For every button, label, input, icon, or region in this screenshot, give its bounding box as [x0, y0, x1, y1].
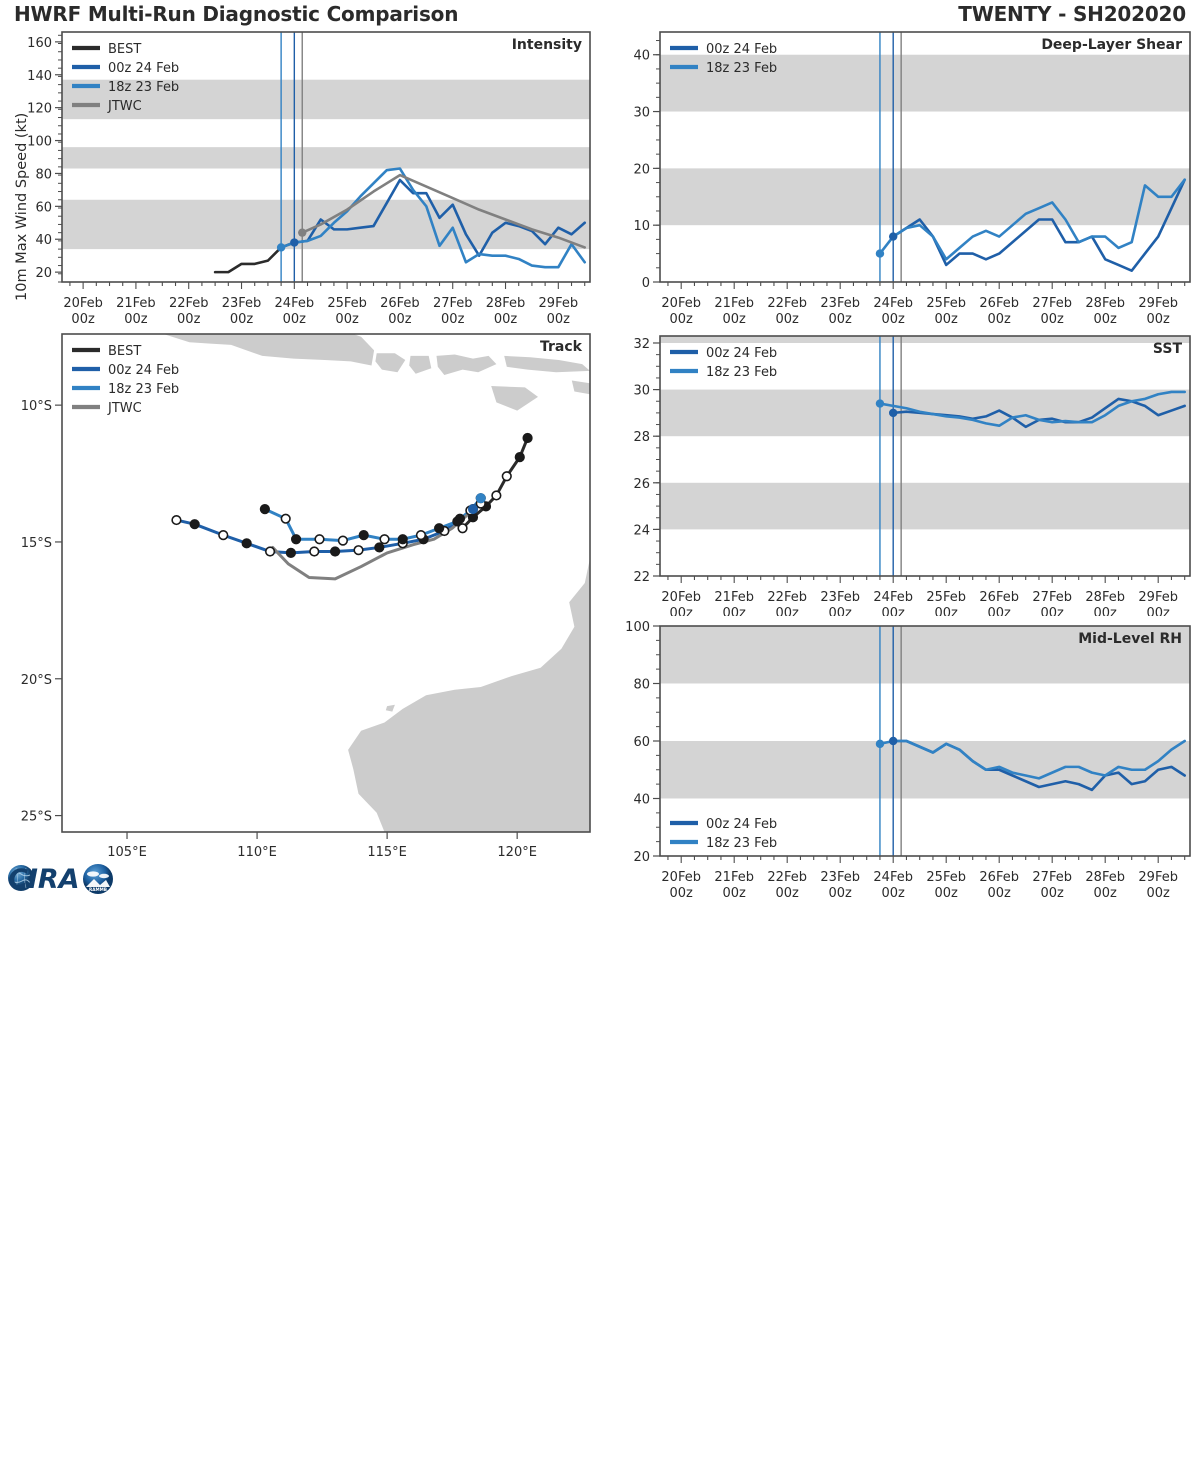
svg-text:26Feb: 26Feb: [979, 590, 1019, 605]
svg-text:00z: 00z: [829, 312, 853, 326]
svg-text:26Feb: 26Feb: [979, 870, 1019, 885]
svg-text:18z 23 Feb: 18z 23 Feb: [706, 365, 777, 380]
storm-identifier: TWENTY - SH202020: [958, 2, 1186, 26]
svg-text:29Feb: 29Feb: [539, 296, 579, 311]
svg-text:120°E: 120°E: [497, 845, 537, 860]
svg-text:40: 40: [35, 233, 52, 248]
svg-text:00z 24 Feb: 00z 24 Feb: [706, 42, 777, 57]
svg-text:20°S: 20°S: [21, 673, 52, 688]
svg-text:24Feb: 24Feb: [275, 296, 315, 311]
svg-text:22: 22: [633, 570, 650, 585]
svg-text:00z: 00z: [1094, 886, 1118, 900]
svg-text:10°S: 10°S: [21, 399, 52, 414]
svg-text:00z: 00z: [335, 312, 359, 326]
panel-shear: 200-850 hPa Shear (kt) 010203040Deep-Lay…: [600, 26, 1200, 326]
svg-text:18z 23 Feb: 18z 23 Feb: [706, 61, 777, 76]
svg-text:00z: 00z: [882, 312, 906, 326]
svg-text:Intensity: Intensity: [512, 37, 582, 53]
svg-text:29Feb: 29Feb: [1138, 296, 1178, 311]
svg-text:00z 24 Feb: 00z 24 Feb: [706, 817, 777, 832]
svg-text:30: 30: [633, 106, 650, 121]
svg-text:26: 26: [633, 477, 650, 492]
svg-text:23Feb: 23Feb: [820, 870, 860, 885]
page-title: HWRF Multi-Run Diagnostic Comparison: [14, 2, 458, 26]
svg-text:Mid-Level RH: Mid-Level RH: [1078, 631, 1182, 647]
sst-plot: 222426283032SST00z 24 Feb18z 23 Feb20Feb…: [600, 326, 1200, 616]
svg-text:00z: 00z: [988, 312, 1012, 326]
svg-text:00z: 00z: [776, 312, 800, 326]
svg-text:00z: 00z: [988, 886, 1012, 900]
svg-text:28Feb: 28Feb: [1085, 296, 1125, 311]
svg-text:00z: 00z: [441, 312, 465, 326]
svg-text:100: 100: [625, 620, 650, 635]
svg-text:20Feb: 20Feb: [63, 296, 103, 311]
svg-text:00z: 00z: [283, 312, 307, 326]
svg-text:115°E: 115°E: [367, 845, 407, 860]
track-map: TrackBEST00z 24 Feb18z 23 FebJTWC10°S15°…: [0, 326, 600, 886]
svg-text:28Feb: 28Feb: [1085, 590, 1125, 605]
svg-text:18z 23 Feb: 18z 23 Feb: [108, 80, 179, 95]
svg-text:00z: 00z: [670, 606, 694, 616]
svg-text:JTWC: JTWC: [107, 99, 142, 114]
svg-text:110°E: 110°E: [237, 845, 277, 860]
svg-text:00z: 00z: [71, 312, 95, 326]
svg-text:27Feb: 27Feb: [433, 296, 473, 311]
svg-text:24Feb: 24Feb: [873, 296, 913, 311]
svg-text:40: 40: [633, 793, 650, 808]
svg-text:27Feb: 27Feb: [1032, 296, 1072, 311]
svg-text:23Feb: 23Feb: [820, 590, 860, 605]
svg-text:25Feb: 25Feb: [926, 590, 966, 605]
svg-text:00z: 00z: [670, 312, 694, 326]
svg-text:23Feb: 23Feb: [222, 296, 262, 311]
svg-text:00z: 00z: [124, 312, 148, 326]
intensity-y-axis-label: 10m Max Wind Speed (kt): [14, 113, 30, 301]
svg-text:00z: 00z: [776, 886, 800, 900]
svg-text:20: 20: [633, 162, 650, 177]
svg-text:00z: 00z: [829, 886, 853, 900]
svg-text:25Feb: 25Feb: [327, 296, 367, 311]
svg-text:00z: 00z: [670, 886, 694, 900]
svg-text:00z: 00z: [829, 606, 853, 616]
svg-text:BEST: BEST: [108, 42, 141, 57]
svg-text:60: 60: [35, 200, 52, 215]
svg-text:24Feb: 24Feb: [873, 870, 913, 885]
svg-text:28: 28: [633, 430, 650, 445]
svg-text:00z: 00z: [1094, 606, 1118, 616]
svg-text:40: 40: [633, 49, 650, 64]
svg-text:21Feb: 21Feb: [714, 296, 754, 311]
svg-text:28Feb: 28Feb: [486, 296, 526, 311]
svg-text:00z 24 Feb: 00z 24 Feb: [108, 363, 179, 378]
svg-text:15°S: 15°S: [21, 536, 52, 551]
svg-text:21Feb: 21Feb: [116, 296, 156, 311]
svg-text:22Feb: 22Feb: [169, 296, 209, 311]
svg-text:22Feb: 22Feb: [767, 870, 807, 885]
svg-text:27Feb: 27Feb: [1032, 590, 1072, 605]
svg-text:JTWC: JTWC: [107, 401, 142, 416]
svg-text:00z: 00z: [882, 886, 906, 900]
svg-text:00z: 00z: [723, 606, 747, 616]
svg-text:26Feb: 26Feb: [979, 296, 1019, 311]
svg-text:23Feb: 23Feb: [820, 296, 860, 311]
svg-text:10: 10: [633, 219, 650, 234]
shear-plot: 010203040Deep-Layer Shear00z 24 Feb18z 2…: [600, 26, 1200, 326]
svg-text:Deep-Layer Shear: Deep-Layer Shear: [1041, 37, 1182, 53]
panel-intensity: 10m Max Wind Speed (kt) 2040608010012014…: [0, 26, 600, 326]
svg-text:22Feb: 22Feb: [767, 590, 807, 605]
intensity-plot: 20406080100120140160IntensityBEST00z 24 …: [0, 26, 600, 326]
svg-text:20: 20: [633, 850, 650, 865]
svg-text:24: 24: [633, 523, 650, 538]
svg-text:24Feb: 24Feb: [873, 590, 913, 605]
svg-text:00z: 00z: [776, 606, 800, 616]
svg-text:20Feb: 20Feb: [661, 590, 701, 605]
svg-text:29Feb: 29Feb: [1138, 870, 1178, 885]
panel-sst: Sea Surface Temp (°C) 222426283032SST00z…: [600, 326, 1200, 616]
svg-text:140: 140: [27, 69, 52, 84]
svg-text:21Feb: 21Feb: [714, 870, 754, 885]
svg-text:80: 80: [35, 167, 52, 182]
svg-text:00z: 00z: [1094, 312, 1118, 326]
svg-text:00z: 00z: [882, 606, 906, 616]
svg-text:26Feb: 26Feb: [380, 296, 420, 311]
svg-text:00z: 00z: [230, 312, 254, 326]
header-bar: HWRF Multi-Run Diagnostic Comparison TWE…: [0, 0, 1200, 26]
svg-text:CIRA: CIRA: [8, 864, 80, 895]
svg-text:00z: 00z: [1041, 312, 1065, 326]
svg-text:27Feb: 27Feb: [1032, 870, 1072, 885]
svg-text:29Feb: 29Feb: [1138, 590, 1178, 605]
svg-text:00z 24 Feb: 00z 24 Feb: [706, 346, 777, 361]
svg-text:0: 0: [642, 276, 650, 291]
svg-text:120: 120: [27, 102, 52, 117]
svg-text:00z: 00z: [988, 606, 1012, 616]
svg-text:21Feb: 21Feb: [714, 590, 754, 605]
svg-text:SST: SST: [1153, 341, 1183, 357]
svg-text:00z: 00z: [494, 312, 518, 326]
svg-text:00z: 00z: [1041, 886, 1065, 900]
svg-text:00z: 00z: [935, 606, 959, 616]
svg-text:28Feb: 28Feb: [1085, 870, 1125, 885]
svg-text:00z: 00z: [935, 312, 959, 326]
svg-text:00z: 00z: [388, 312, 412, 326]
svg-text:00z: 00z: [723, 312, 747, 326]
svg-text:RAMMB: RAMMB: [89, 887, 107, 892]
svg-text:32: 32: [633, 337, 650, 352]
svg-text:00z: 00z: [177, 312, 201, 326]
svg-text:20Feb: 20Feb: [661, 296, 701, 311]
svg-text:80: 80: [633, 678, 650, 693]
svg-text:100: 100: [27, 135, 52, 150]
svg-text:00z: 00z: [935, 886, 959, 900]
svg-text:Track: Track: [540, 339, 583, 355]
svg-text:18z 23 Feb: 18z 23 Feb: [706, 836, 777, 851]
svg-text:20Feb: 20Feb: [661, 870, 701, 885]
panel-rh: 700-500 hPa Humidity (%) 20406080100Mid-…: [600, 616, 1200, 900]
svg-text:25Feb: 25Feb: [926, 870, 966, 885]
svg-text:25°S: 25°S: [21, 810, 52, 825]
svg-text:00z: 00z: [1147, 312, 1171, 326]
rh-plot: 20406080100Mid-Level RH00z 24 Feb18z 23 …: [600, 616, 1200, 900]
svg-text:60: 60: [633, 735, 650, 750]
svg-text:22Feb: 22Feb: [767, 296, 807, 311]
svg-text:00z: 00z: [1147, 886, 1171, 900]
svg-text:00z: 00z: [723, 886, 747, 900]
svg-text:00z: 00z: [1041, 606, 1065, 616]
panel-track: TrackBEST00z 24 Feb18z 23 FebJTWC10°S15°…: [0, 326, 600, 886]
svg-text:25Feb: 25Feb: [926, 296, 966, 311]
cira-logo: CIRA RAMMB: [6, 856, 126, 898]
svg-text:00z 24 Feb: 00z 24 Feb: [108, 61, 179, 76]
svg-text:BEST: BEST: [108, 344, 141, 359]
svg-text:00z: 00z: [1147, 606, 1171, 616]
svg-text:30: 30: [633, 384, 650, 399]
svg-text:00z: 00z: [547, 312, 571, 326]
svg-text:18z 23 Feb: 18z 23 Feb: [108, 382, 179, 397]
svg-text:160: 160: [27, 36, 52, 51]
svg-text:20: 20: [35, 266, 52, 281]
